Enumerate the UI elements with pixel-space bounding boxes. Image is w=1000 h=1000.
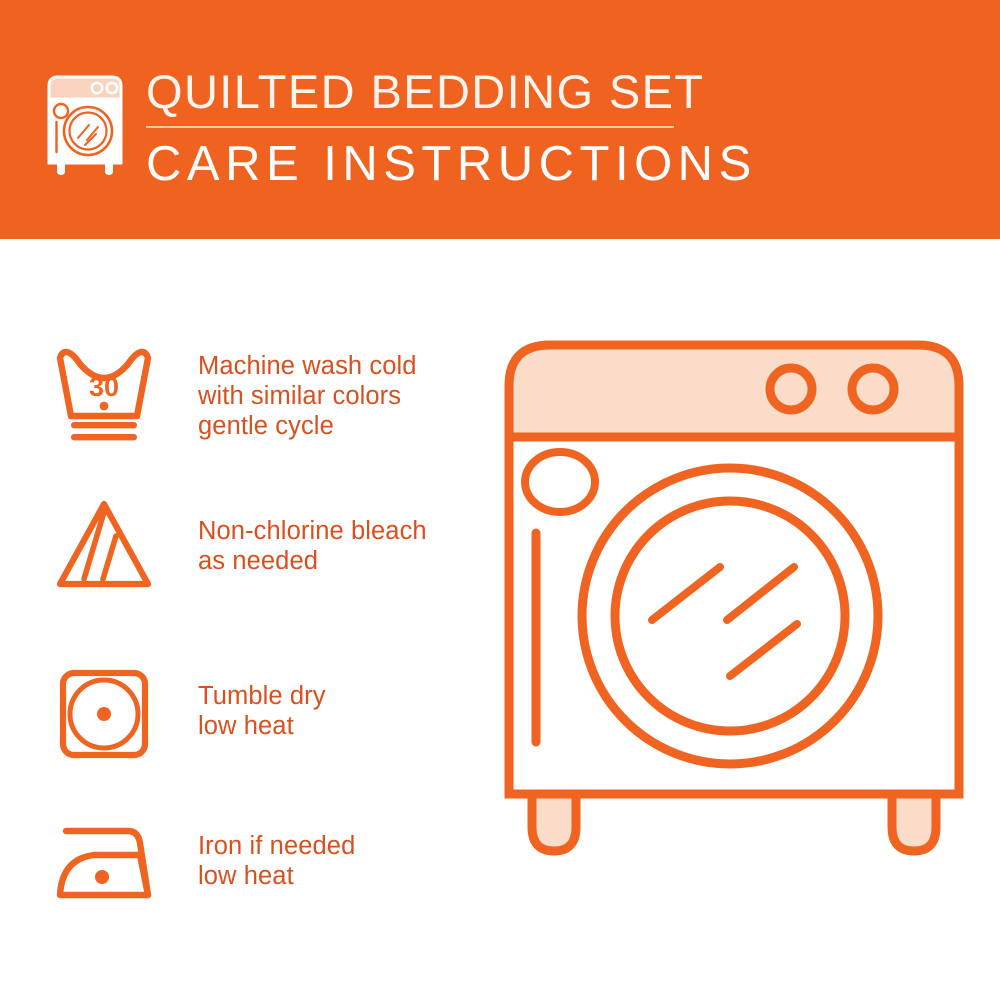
control-knob bbox=[852, 368, 894, 410]
care-row-tumble-dry: Tumble dry low heat bbox=[52, 659, 472, 763]
bleach-triangle-icon bbox=[52, 494, 164, 598]
machine-foot bbox=[892, 794, 936, 851]
care-text-wash: Machine wash cold with similar colors ge… bbox=[198, 351, 417, 441]
washing-machine-icon bbox=[44, 72, 126, 176]
power-button bbox=[525, 452, 595, 512]
tumble-dry-icon bbox=[52, 659, 164, 763]
care-text-bleach: Non-chlorine bleach as needed bbox=[198, 516, 427, 576]
wash-temp-label: 30 bbox=[89, 372, 119, 402]
care-row-wash: 30 Machine wash cold with similar colors… bbox=[52, 344, 472, 448]
control-knob bbox=[770, 368, 812, 410]
page-subtitle: CARE INSTRUCTIONS bbox=[146, 137, 706, 191]
care-text-iron: Iron if needed low heat bbox=[198, 831, 355, 891]
care-text-tumble-dry: Tumble dry low heat bbox=[198, 681, 326, 741]
iron-icon bbox=[52, 809, 164, 913]
machine-foot bbox=[532, 794, 576, 851]
care-row-iron: Iron if needed low heat bbox=[52, 809, 472, 913]
header-banner: QUILTED BEDDING SET CARE INSTRUCTIONS bbox=[0, 0, 1000, 239]
page-title: QUILTED BEDDING SET bbox=[146, 66, 706, 118]
title-divider bbox=[146, 126, 674, 128]
care-instruction-list: 30 Machine wash cold with similar colors… bbox=[0, 239, 500, 1000]
front-load-washing-machine-illustration bbox=[492, 330, 976, 950]
care-instructions-infographic: QUILTED BEDDING SET CARE INSTRUCTIONS 30 bbox=[0, 0, 1000, 1000]
header-title-block: QUILTED BEDDING SET CARE INSTRUCTIONS bbox=[146, 66, 706, 191]
care-row-bleach: Non-chlorine bleach as needed bbox=[52, 494, 472, 598]
wash-tub-icon: 30 bbox=[52, 344, 164, 448]
